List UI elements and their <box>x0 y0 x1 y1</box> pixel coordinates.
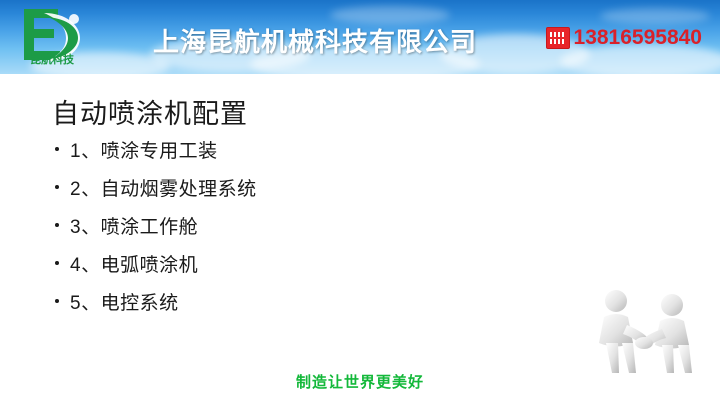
handshake-figures-icon <box>586 287 706 377</box>
list-item: 1、喷涂专用工装 <box>52 136 257 163</box>
slide-body: 自动喷涂机配置 1、喷涂专用工装 2、自动烟雾处理系统 3、喷涂工作舱 4、电弧… <box>0 74 720 405</box>
company-logo: 昆航科技 <box>14 5 100 71</box>
list-item: 2、自动烟雾处理系统 <box>52 174 257 201</box>
logo-wordmark: 昆航科技 <box>30 51 74 67</box>
list-item: 3、喷涂工作舱 <box>52 212 257 239</box>
footer-slogan: 制造让世界更美好 <box>0 371 720 392</box>
slide: 昆航科技 上海昆航机械科技有限公司 13816595840 自动喷涂机配置 1、… <box>0 0 720 405</box>
fax-machine-icon <box>546 27 570 49</box>
page-title: 自动喷涂机配置 <box>52 92 248 131</box>
list-item: 4、电弧喷涂机 <box>52 250 257 277</box>
phone-number: 13816595840 <box>574 26 702 50</box>
config-list: 1、喷涂专用工装 2、自动烟雾处理系统 3、喷涂工作舱 4、电弧喷涂机 5、电控… <box>52 136 257 326</box>
list-item: 5、电控系统 <box>52 288 257 315</box>
contact-phone: 13816595840 <box>546 26 702 50</box>
